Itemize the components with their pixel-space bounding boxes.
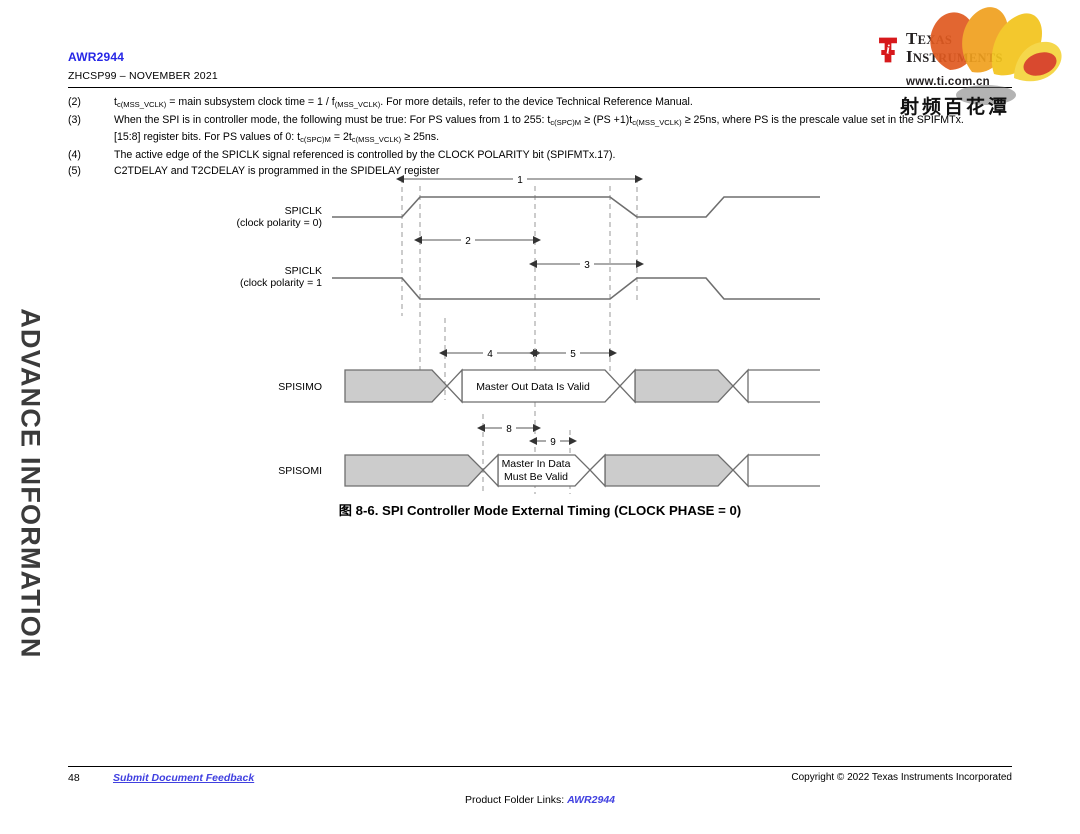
label-spiclk-pol1-line2: (clock polarity = 1 xyxy=(240,277,322,289)
label-spisimo: SPISIMO xyxy=(278,381,322,393)
timing-diagram-svg: 1 2 3 4 5 8 9 Master Out Data Is Valid xyxy=(0,0,1080,834)
label-spisomi: SPISOMI xyxy=(278,465,322,477)
measurement-label-5: 5 xyxy=(570,349,576,360)
label-spiclk-pol0-line2: (clock polarity = 0) xyxy=(237,217,323,229)
measurement-label-1: 1 xyxy=(517,175,523,186)
measurement-label-9: 9 xyxy=(550,437,556,448)
spisomi-data-label-line2: Must Be Valid xyxy=(504,471,568,483)
timing-diagram-figure: 1 2 3 4 5 8 9 Master Out Data Is Valid xyxy=(0,0,1080,834)
waveform-spiclk-polarity-0 xyxy=(332,197,820,217)
label-spiclk-pol0-line1: SPICLK xyxy=(285,205,322,217)
waveform-spisimo: Master Out Data Is Valid xyxy=(345,370,820,402)
measurement-label-3: 3 xyxy=(584,260,590,271)
footer-divider xyxy=(68,766,1012,767)
footer-page-number: 48 xyxy=(68,772,80,784)
label-spiclk-pol1-line1: SPICLK xyxy=(285,265,322,277)
footer-product-folder: Product Folder Links: AWR2944 xyxy=(0,794,1080,806)
submit-document-feedback-link[interactable]: Submit Document Feedback xyxy=(113,772,254,784)
waveform-spisomi: Master In Data Must Be Valid xyxy=(345,455,820,486)
dashed-guidelines xyxy=(402,178,637,494)
measurement-label-2: 2 xyxy=(465,236,471,247)
spisimo-data-label: Master Out Data Is Valid xyxy=(476,381,590,393)
spisomi-data-label-line1: Master In Data xyxy=(502,458,571,470)
figure-caption-text: 8-6. SPI Controller Mode External Timing… xyxy=(352,503,741,518)
signal-labels: SPICLK (clock polarity = 0) SPICLK (cloc… xyxy=(237,205,323,477)
footer-copyright: Copyright © 2022 Texas Instruments Incor… xyxy=(791,772,1012,783)
measurement-labels: 1 2 3 4 5 8 9 xyxy=(461,172,594,448)
measurement-label-8: 8 xyxy=(506,424,512,435)
measurement-label-4: 4 xyxy=(487,349,493,360)
figure-caption: 图 8-6. SPI Controller Mode External Timi… xyxy=(68,500,1012,519)
figure-caption-cn: 图 xyxy=(339,504,352,519)
product-folder-label: Product Folder Links: xyxy=(465,794,567,806)
product-folder-link[interactable]: AWR2944 xyxy=(567,794,615,806)
waveform-spiclk-polarity-1 xyxy=(332,278,820,299)
